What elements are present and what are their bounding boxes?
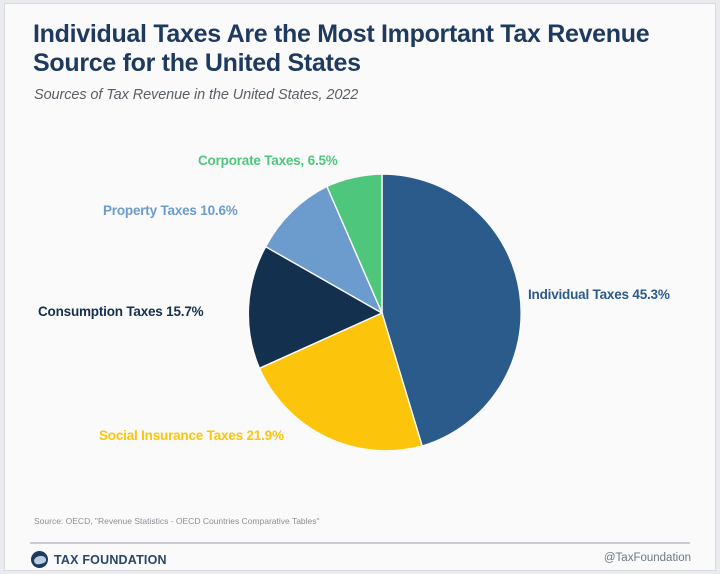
- social-handle: @TaxFoundation: [604, 552, 691, 564]
- brand-name: TAX FOUNDATION: [54, 553, 167, 567]
- pie-label-property-taxes: Property Taxes 10.6%: [103, 203, 238, 218]
- pie-label-social-insurance-taxes: Social Insurance Taxes 21.9%: [99, 428, 284, 443]
- pie-label-corporate-taxes: Corporate Taxes, 6.5%: [198, 153, 338, 168]
- pie-label-individual-taxes: Individual Taxes 45.3%: [528, 287, 670, 302]
- chart-figure: Individual Taxes Are the Most Important …: [4, 3, 716, 571]
- pie-chart: Corporate Taxes, 6.5% Property Taxes 10.…: [5, 4, 716, 571]
- footer-bar: TAX FOUNDATION @TaxFoundation: [5, 544, 716, 571]
- tax-foundation-logo-icon: [31, 551, 48, 568]
- brand-lockup: TAX FOUNDATION: [31, 551, 167, 568]
- pie-label-consumption-taxes: Consumption Taxes 15.7%: [38, 304, 203, 319]
- source-note: Source: OECD, "Revenue Statistics - OECD…: [34, 516, 320, 526]
- pie-chart-svg: [241, 172, 523, 454]
